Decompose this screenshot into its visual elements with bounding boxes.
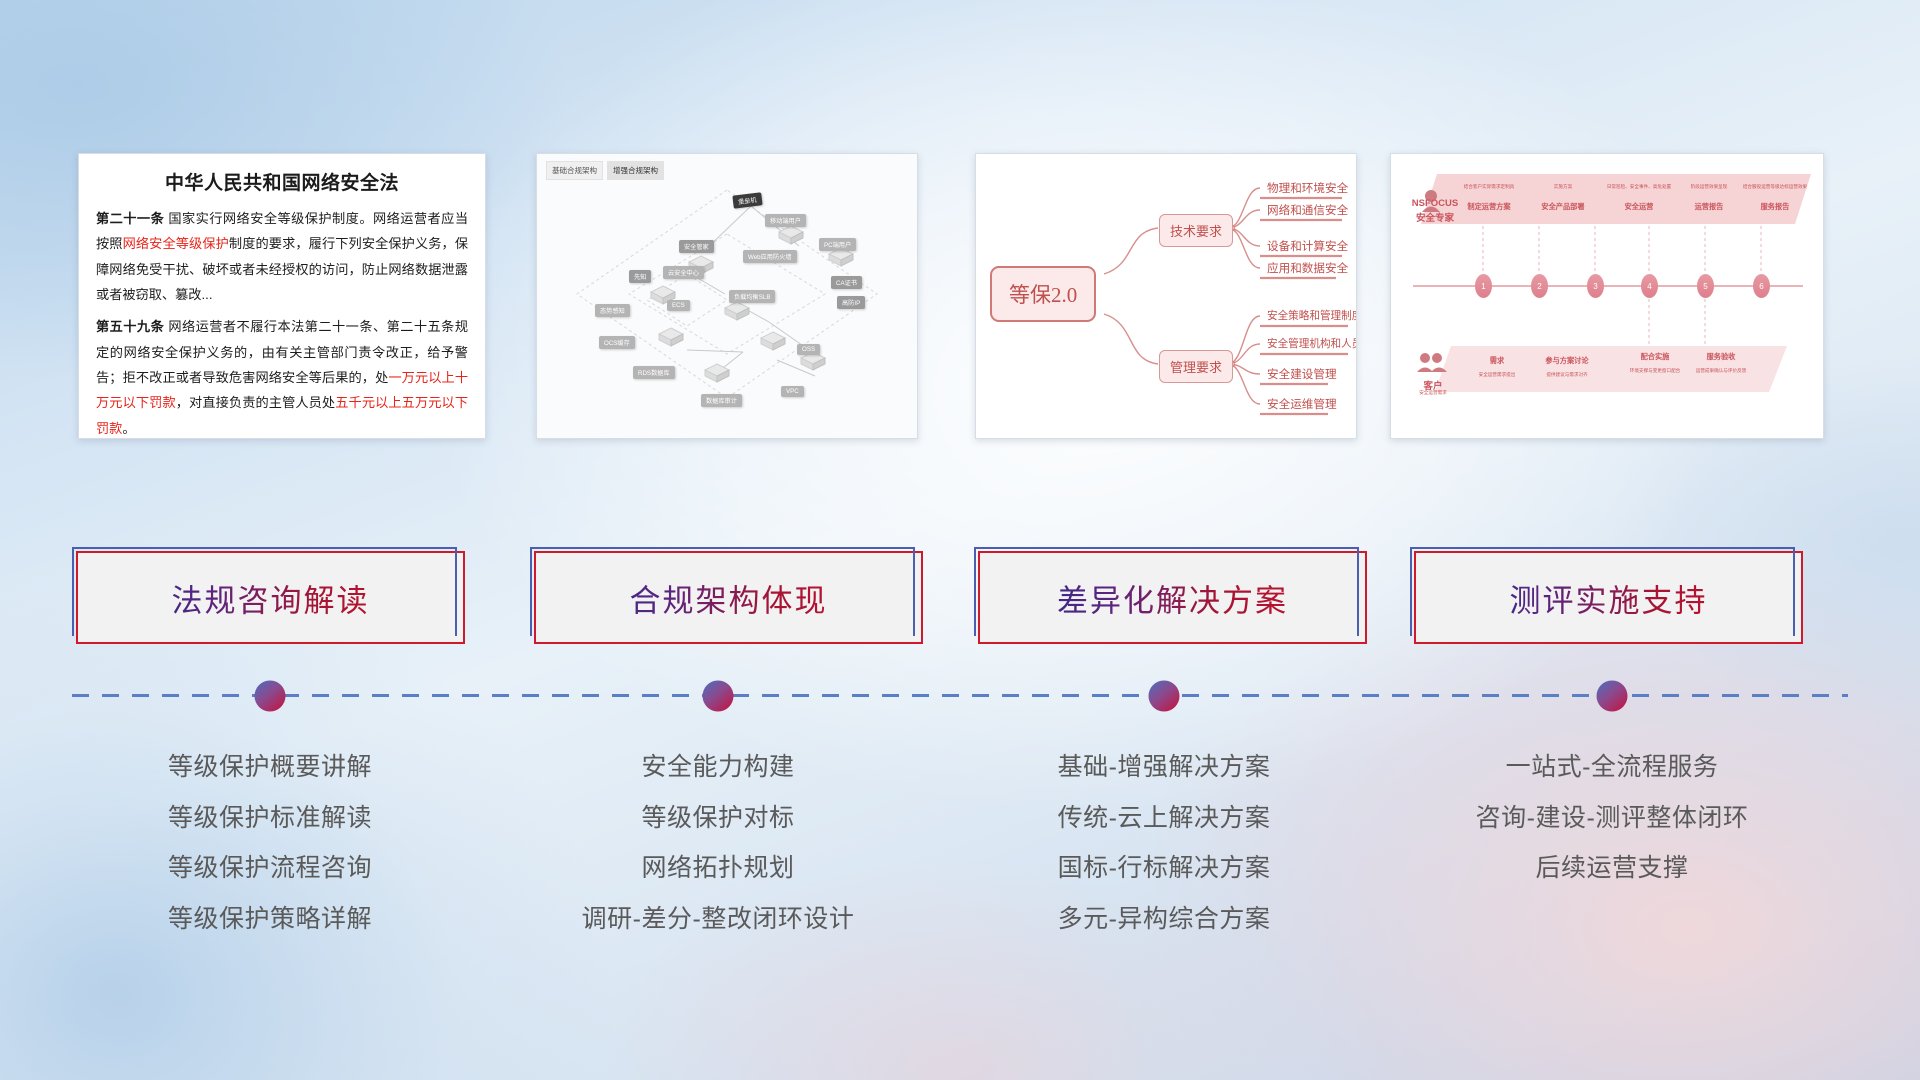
nsfocus-flow: NSFOCUS 安全专家 结合客户实际需求定制具 制定运营方案 实施方案 安全产… (1391, 154, 1823, 438)
law-body: 第二十一条 国家实行网络安全等级保护制度。网络运营者应当按照网络安全等级保护制度… (79, 206, 485, 439)
list-item: 调研-差分-整改闭环设计 (518, 894, 918, 945)
timeline-dot-2 (703, 681, 734, 712)
list-item: 国标-行标解决方案 (964, 843, 1364, 894)
label-evaluation-support[interactable]: 测评实施支持 (1414, 551, 1803, 644)
nsfocus-brand-sub: 安全专家 (1403, 210, 1467, 224)
mindmap-leaf: 物理和环境安全 (1264, 180, 1351, 198)
nsfocus-step-title: 服务报告 (1735, 202, 1815, 212)
list-item: 等级保护策略详解 (70, 894, 470, 945)
node-cube (777, 224, 803, 244)
node-cube (759, 330, 785, 350)
node-label: PC端用户 (819, 238, 856, 251)
law-title: 中华人民共和国网络安全法 (79, 168, 485, 195)
timeline-dashed-line (72, 694, 1848, 697)
node-label: 云安全中心 (663, 266, 704, 279)
mindmap-leaf: 安全策略和管理制度 (1264, 308, 1357, 325)
node-label: 态势感知 (595, 304, 630, 317)
law-article-21-highlight: 网络安全等级保护 (123, 236, 229, 251)
label-text: 差异化解决方案 (980, 575, 1365, 620)
node-cube (723, 300, 749, 320)
mindmap-leaf: 安全建设管理 (1264, 366, 1340, 384)
nsfocus-step-sub: 结合服役运营等级达标运营效果 (1729, 184, 1821, 190)
label-text: 测评实施支持 (1416, 575, 1801, 620)
timeline-dot-1 (255, 681, 286, 712)
node-label: 移动端用户 (765, 214, 806, 227)
list-item: 一站式-全流程服务 (1412, 742, 1812, 793)
column-evaluation-support: 一站式-全流程服务 咨询-建设-测评整体闭环 后续运营支撑 (1412, 742, 1812, 894)
mindmap-branch-management: 管理要求 (1159, 350, 1233, 383)
mindmap-leaf: 安全管理机构和人员 (1264, 336, 1357, 353)
law-article-59-text-c: 。 (122, 421, 135, 436)
label-regulation-consulting[interactable]: 法规咨询解读 (76, 551, 465, 644)
architecture-diagram: 基础合规架构 增强合规架构 (537, 154, 917, 438)
node-label: Web应用防火墙 (743, 250, 797, 263)
nsfocus-footer-sub: 提供建议与需求对齐 (1529, 372, 1605, 378)
mindmap-leaf: 安全运维管理 (1264, 396, 1340, 414)
node-label: OCS缓存 (599, 336, 635, 349)
list-item: 传统-云上解决方案 (964, 793, 1364, 844)
label-compliance-architecture[interactable]: 合规架构体现 (534, 551, 923, 644)
nsfocus-footer-brand-sub: 安全运营需求 (1401, 390, 1465, 396)
mindmap-leaf: 网络和通信安全 (1264, 202, 1351, 220)
nsfocus-footer-sub: 运营成果确认与评价反馈 (1681, 368, 1761, 374)
node-label: ECS (667, 300, 690, 311)
label-differentiated-solution[interactable]: 差异化解决方案 (978, 551, 1367, 644)
list-item: 后续运营支撑 (1412, 843, 1812, 894)
mindmap-branch-technical: 技术要求 (1159, 214, 1233, 247)
mindmap: 等保2.0 技术要求 管理要求 物理和环境安全 网络和通信安全 设备和计算安全 … (976, 154, 1356, 438)
column-differentiated-solution: 基础-增强解决方案 传统-云上解决方案 国标-行标解决方案 多元-异构综合方案 (964, 742, 1364, 944)
cybersecurity-law-card: 中华人民共和国网络安全法 第二十一条 国家实行网络安全等级保护制度。网络运营者应… (78, 153, 486, 439)
column-regulation-consulting: 等级保护概要讲解 等级保护标准解读 等级保护流程咨询 等级保护策略详解 (70, 742, 470, 944)
step-number-badge: 2 (1531, 274, 1548, 298)
list-item: 基础-增强解决方案 (964, 742, 1364, 793)
list-item: 等级保护流程咨询 (70, 843, 470, 894)
step-number-badge: 6 (1753, 274, 1770, 298)
timeline-dot-3 (1149, 681, 1180, 712)
law-article-21-label: 第二十一条 (96, 211, 164, 226)
law-article-59: 第五十九条 网络运营者不履行本法第二十一条、第二十五条规定的网络安全保护义务的，… (96, 314, 468, 439)
step-number-badge: 1 (1475, 274, 1492, 298)
label-text: 法规咨询解读 (78, 575, 463, 620)
node-label: 安全管家 (679, 240, 714, 253)
node-label: OSS (797, 344, 820, 355)
node-label: VPC (781, 386, 804, 397)
list-item: 等级保护对标 (518, 793, 918, 844)
mindmap-leaf: 应用和数据安全 (1264, 260, 1351, 278)
list-item: 咨询-建设-测评整体闭环 (1412, 793, 1812, 844)
list-item: 安全能力构建 (518, 742, 918, 793)
label-text: 合规架构体现 (536, 575, 921, 620)
nsfocus-footer-title: 参与方案讨论 (1531, 356, 1603, 366)
node-label: 负载均衡SLB (729, 290, 775, 303)
step-number-badge: 4 (1641, 274, 1658, 298)
node-cube (657, 326, 683, 346)
node-label: 数据库审计 (701, 394, 742, 407)
nsfocus-footer-sub: 安全运营需求提出 (1463, 372, 1531, 378)
mindmap-leaf: 设备和计算安全 (1264, 238, 1351, 256)
nsfocus-footer-title: 配合实施 (1629, 352, 1681, 362)
node-cube (703, 362, 729, 382)
step-number-badge: 3 (1587, 274, 1604, 298)
law-article-59-text-b: ，对直接负责的主管人员处 (176, 395, 335, 410)
column-compliance-architecture: 安全能力构建 等级保护对标 网络拓扑规划 调研-差分-整改闭环设计 (518, 742, 918, 944)
node-label: 高防IP (837, 296, 865, 309)
mindmap-root: 等保2.0 (990, 266, 1096, 322)
nsfocus-step-title: 安全产品部署 (1523, 202, 1603, 212)
list-item: 多元-异构综合方案 (964, 894, 1364, 945)
dengbao-mindmap-card: 等保2.0 技术要求 管理要求 物理和环境安全 网络和通信安全 设备和计算安全 … (975, 153, 1357, 439)
nsfocus-step-title: 制定运营方案 (1449, 202, 1529, 212)
nsfocus-footer-title: 服务验收 (1691, 352, 1751, 362)
step-number-badge: 5 (1697, 274, 1714, 298)
list-item: 等级保护标准解读 (70, 793, 470, 844)
nsfocus-flow-card: NSFOCUS 安全专家 结合客户实际需求定制具 制定运营方案 实施方案 安全产… (1390, 153, 1824, 439)
node-label: RDS数据库 (633, 366, 675, 379)
list-item: 等级保护概要讲解 (70, 742, 470, 793)
nsfocus-footer-title: 需求 (1471, 356, 1523, 366)
nsfocus-step-title: 安全运营 (1599, 202, 1679, 212)
list-item: 网络拓扑规划 (518, 843, 918, 894)
nsfocus-step-sub: 结合客户实际需求定制具 (1449, 184, 1529, 190)
timeline-dot-4 (1597, 681, 1628, 712)
law-article-21: 第二十一条 国家实行网络安全等级保护制度。网络运营者应当按照网络安全等级保护制度… (96, 206, 468, 307)
compliance-architecture-card: 基础合规架构 增强合规架构 (536, 153, 918, 439)
law-article-59-label: 第五十九条 (96, 319, 164, 334)
node-label: CA证书 (831, 276, 862, 289)
node-label: 先知 (629, 270, 651, 283)
